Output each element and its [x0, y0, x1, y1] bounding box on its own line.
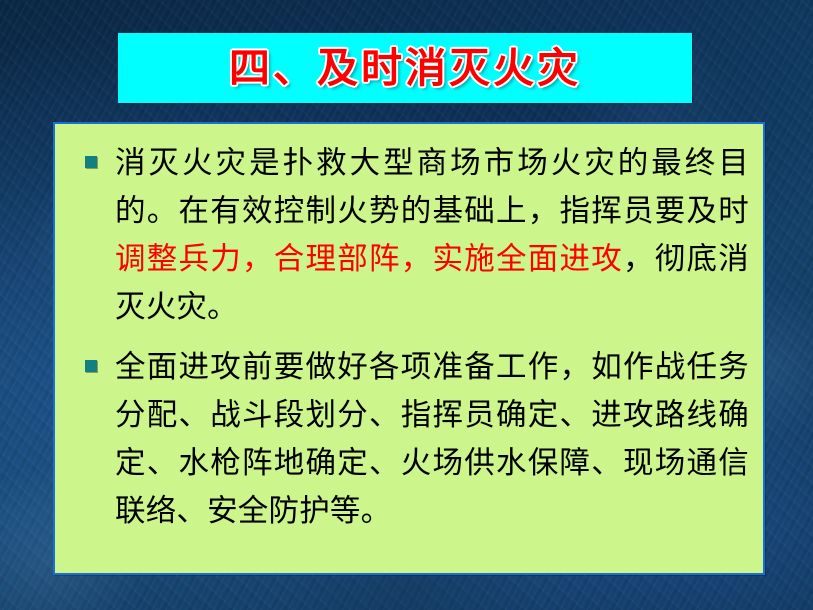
- square-bullet-icon: [85, 360, 97, 372]
- bullet-list: 消灭火灾是扑救大型商场市场火灾的最终目的。在有效控制火势的基础上，指挥员要及时调…: [69, 140, 749, 536]
- bullet-1-segment-1: 消灭火灾是扑救大型商场市场火灾的最终目的。在有效控制火势的基础上，指挥员要及时: [115, 146, 749, 229]
- title-banner: 四、及时消灭火灾: [118, 33, 692, 103]
- bullet-paragraph-1: 消灭火灾是扑救大型商场市场火灾的最终目的。在有效控制火势的基础上，指挥员要及时调…: [115, 140, 749, 332]
- bullet-1-segment-2-highlight: 调整兵力，合理部阵，实施全面进攻: [115, 242, 623, 277]
- page-title: 四、及时消灭火灾: [229, 48, 581, 89]
- bullet-paragraph-2: 全面进攻前要做好各项准备工作，如作战任务分配、战斗段划分、指挥员确定、进攻路线确…: [115, 344, 749, 536]
- list-item: 消灭火灾是扑救大型商场市场火灾的最终目的。在有效控制火势的基础上，指挥员要及时调…: [69, 140, 749, 332]
- square-bullet-icon: [85, 156, 97, 168]
- slide-canvas: 四、及时消灭火灾 消灭火灾是扑救大型商场市场火灾的最终目的。在有效控制火势的基础…: [0, 0, 813, 610]
- list-item: 全面进攻前要做好各项准备工作，如作战任务分配、战斗段划分、指挥员确定、进攻路线确…: [69, 344, 749, 536]
- bullet-2-segment-1: 全面进攻前要做好各项准备工作，如作战任务分配、战斗段划分、指挥员确定、进攻路线确…: [115, 350, 749, 529]
- content-box: 消灭火灾是扑救大型商场市场火灾的最终目的。在有效控制火势的基础上，指挥员要及时调…: [53, 122, 765, 575]
